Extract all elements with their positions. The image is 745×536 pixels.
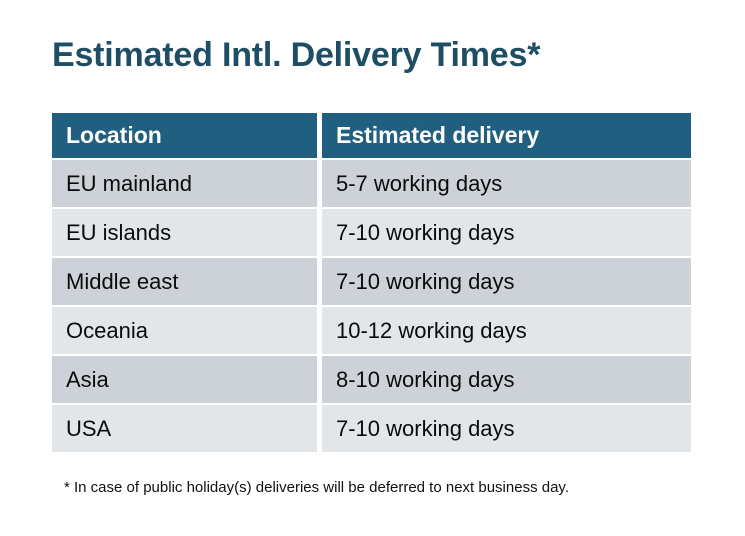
cell-location: EU islands (52, 209, 317, 256)
cell-delivery: 7-10 working days (322, 258, 691, 305)
footnote: * In case of public holiday(s) deliverie… (64, 479, 569, 496)
cell-delivery: 7-10 working days (322, 405, 691, 452)
cell-location: Oceania (52, 307, 317, 354)
cell-location: EU mainland (52, 160, 317, 207)
cell-location: Middle east (52, 258, 317, 305)
cell-location: USA (52, 405, 317, 452)
table-row: EU islands 7-10 working days (52, 209, 691, 256)
cell-delivery: 5-7 working days (322, 160, 691, 207)
column-header-location: Location (52, 113, 317, 158)
table-row: Middle east 7-10 working days (52, 258, 691, 305)
table-header-row: Location Estimated delivery (52, 113, 691, 158)
table-row: Oceania 10-12 working days (52, 307, 691, 354)
delivery-times-card: Estimated Intl. Delivery Times* Location… (0, 0, 745, 536)
page-title: Estimated Intl. Delivery Times* (52, 36, 540, 75)
estimated-delivery-table: Location Estimated delivery EU mainland … (52, 113, 691, 454)
table-row: USA 7-10 working days (52, 405, 691, 452)
table-row: Asia 8-10 working days (52, 356, 691, 403)
cell-delivery: 8-10 working days (322, 356, 691, 403)
cell-location: Asia (52, 356, 317, 403)
cell-delivery: 10-12 working days (322, 307, 691, 354)
column-header-estimated-delivery: Estimated delivery (322, 113, 691, 158)
table-row: EU mainland 5-7 working days (52, 160, 691, 207)
cell-delivery: 7-10 working days (322, 209, 691, 256)
